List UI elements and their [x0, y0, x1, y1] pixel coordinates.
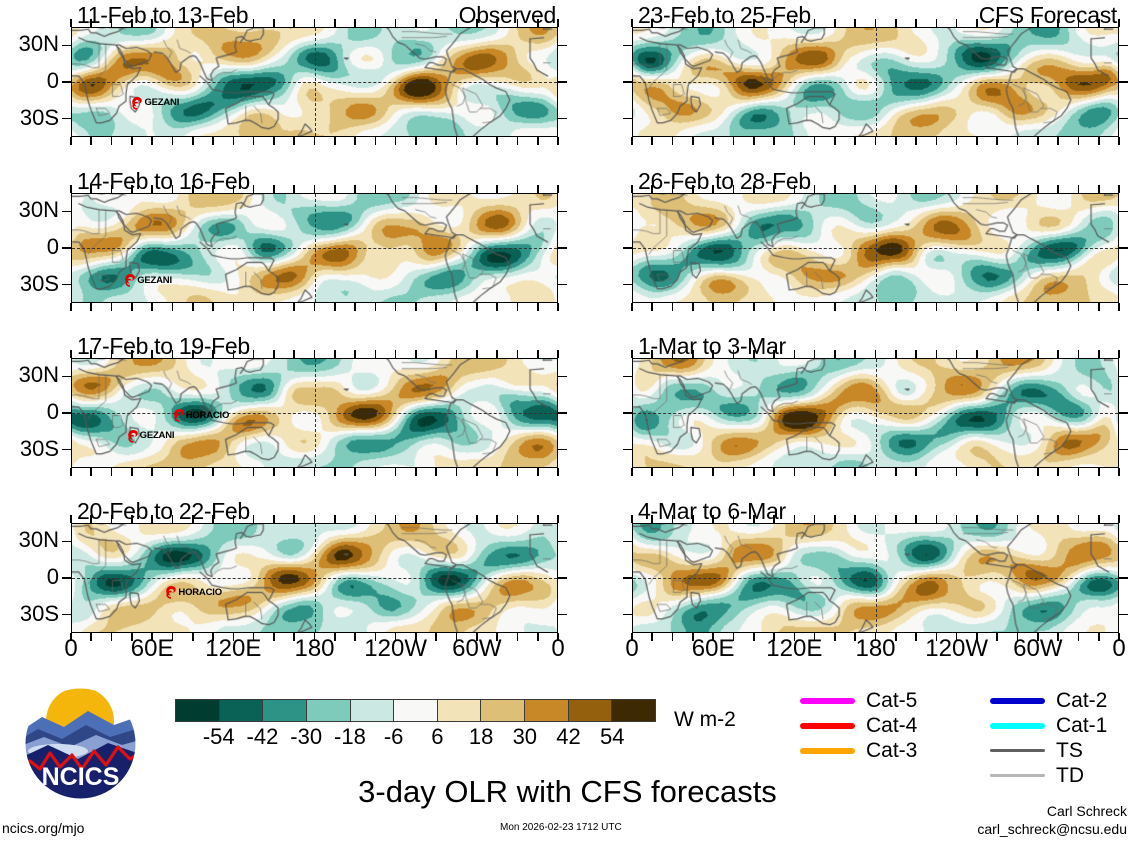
x-axis-tick: [631, 468, 633, 476]
x-axis-tick: [70, 19, 72, 27]
x-axis-tick: [1118, 303, 1120, 311]
x-axis-tick: [496, 303, 498, 311]
x-axis-tick: [956, 19, 958, 27]
x-axis-tick: [895, 515, 897, 523]
x-axis-tick: [915, 303, 917, 311]
x-axis-tick: [354, 303, 356, 311]
x-axis-tick: [834, 185, 836, 193]
olr-anomaly-field: [633, 194, 1118, 302]
x-axis-tick: [915, 185, 917, 193]
x-axis-tick: [212, 19, 214, 27]
y-axis-label: 30S: [0, 271, 59, 297]
x-axis-tick: [814, 515, 816, 523]
x-axis-tick: [895, 137, 897, 145]
x-axis-tick: [233, 468, 235, 476]
x-axis-tick: [1078, 185, 1080, 193]
x-axis-tick: [395, 350, 397, 358]
colorbar-segment-6: [437, 700, 481, 721]
x-axis-tick: [253, 185, 255, 193]
x-axis-tick: [936, 468, 938, 476]
y-axis-tick: [558, 45, 567, 47]
y-axis-tick: [62, 376, 71, 378]
y-axis-tick: [1119, 577, 1128, 579]
colorbar-tick-label: 6: [431, 724, 443, 750]
y-axis-tick: [623, 412, 632, 414]
map-panel-obs-1: 11-Feb to 13-FebObservedGEZANI30N030S: [71, 27, 558, 137]
x-axis-tick: [517, 515, 519, 523]
x-axis-tick: [415, 303, 417, 311]
x-axis-tick: [456, 19, 458, 27]
x-axis-tick: [753, 185, 755, 193]
x-axis-tick: [895, 19, 897, 27]
x-axis-tick: [733, 185, 735, 193]
x-axis-tick: [151, 468, 153, 476]
x-axis-tick: [537, 185, 539, 193]
x-axis-tick: [692, 19, 694, 27]
x-axis-tick: [692, 185, 694, 193]
y-axis-tick: [62, 45, 71, 47]
x-axis-tick: [192, 185, 194, 193]
y-axis-label: 0: [0, 68, 59, 94]
x-axis-tick: [1037, 303, 1039, 311]
x-axis-tick: [875, 137, 877, 145]
x-axis-tick: [956, 185, 958, 193]
x-axis-tick: [794, 19, 796, 27]
storm-legend-item: Cat-1: [990, 713, 1107, 738]
x-axis-tick: [456, 515, 458, 523]
x-axis-tick: [233, 303, 235, 311]
x-axis-tick: [834, 350, 836, 358]
x-axis-tick: [192, 137, 194, 145]
x-axis-tick: [172, 303, 174, 311]
x-axis-tick: [854, 19, 856, 27]
x-axis-tick: [895, 303, 897, 311]
x-axis-tick: [915, 19, 917, 27]
x-axis-tick: [1078, 137, 1080, 145]
x-axis-tick: [996, 185, 998, 193]
x-axis-tick: [456, 185, 458, 193]
x-axis-tick: [557, 515, 559, 523]
olr-anomaly-field: [72, 359, 557, 467]
x-axis-tick: [692, 303, 694, 311]
colorbar-tick-label: 18: [469, 724, 493, 750]
x-axis-tick: [233, 350, 235, 358]
storm-legend-column-left: Cat-5Cat-4Cat-3: [800, 688, 917, 763]
y-axis-tick: [558, 577, 567, 579]
x-axis-tick: [733, 19, 735, 27]
x-axis-tick: [90, 350, 92, 358]
y-axis-tick: [1119, 449, 1128, 451]
x-axis-tick: [1078, 19, 1080, 27]
x-axis-tick: [456, 350, 458, 358]
x-axis-tick: [537, 303, 539, 311]
x-axis-tick: [537, 515, 539, 523]
x-axis-tick: [537, 19, 539, 27]
x-axis-tick: [111, 350, 113, 358]
x-axis-tick: [915, 515, 917, 523]
x-axis-tick: [1057, 137, 1059, 145]
storm-legend-label: Cat-1: [1056, 714, 1107, 738]
x-axis-tick: [651, 468, 653, 476]
x-axis-tick: [1098, 137, 1100, 145]
y-axis-tick: [1119, 284, 1128, 286]
x-axis-label: 0: [1059, 635, 1135, 663]
x-axis-tick: [435, 137, 437, 145]
colorbar-tick-label: -30: [290, 724, 322, 750]
x-axis-tick: [794, 350, 796, 358]
x-axis-tick: [435, 350, 437, 358]
x-axis-tick: [834, 19, 836, 27]
x-axis-tick: [557, 185, 559, 193]
ncics-url[interactable]: ncics.org/mjo: [2, 820, 84, 836]
x-axis-tick: [456, 303, 458, 311]
x-axis-tick: [435, 303, 437, 311]
x-axis-tick: [253, 515, 255, 523]
x-axis-tick: [854, 515, 856, 523]
x-axis-tick: [415, 185, 417, 193]
storm-legend-label: Cat-4: [866, 714, 917, 738]
x-axis-tick: [692, 468, 694, 476]
x-axis-tick: [1017, 350, 1019, 358]
x-axis-tick: [996, 515, 998, 523]
x-axis-tick: [996, 468, 998, 476]
x-axis-tick: [651, 350, 653, 358]
x-axis-tick: [557, 468, 559, 476]
y-axis-tick: [62, 449, 71, 451]
x-axis-tick: [1118, 515, 1120, 523]
x-axis-tick: [631, 350, 633, 358]
y-axis-tick: [1119, 376, 1128, 378]
y-axis-label: 0: [0, 399, 59, 425]
storm-legend-swatch: [990, 723, 1045, 729]
x-axis-tick: [70, 515, 72, 523]
x-axis-tick: [651, 185, 653, 193]
x-axis-tick: [1098, 350, 1100, 358]
x-axis-tick: [334, 303, 336, 311]
panel-title: 11-Feb to 13-Feb: [77, 2, 248, 29]
x-axis-tick: [212, 515, 214, 523]
x-axis-tick: [651, 303, 653, 311]
y-axis-tick: [62, 577, 71, 579]
x-axis-tick: [334, 185, 336, 193]
x-axis-tick: [1118, 468, 1120, 476]
x-axis-tick: [733, 137, 735, 145]
map-frame: [632, 523, 1119, 633]
colorbar-tick-label: 42: [556, 724, 580, 750]
x-axis-tick: [895, 185, 897, 193]
x-axis-tick: [1057, 303, 1059, 311]
x-axis-tick: [334, 137, 336, 145]
y-axis-tick: [1119, 118, 1128, 120]
x-axis-tick: [753, 137, 755, 145]
y-axis-tick: [623, 376, 632, 378]
storm-legend-item: Cat-3: [800, 738, 917, 763]
x-axis-tick: [496, 350, 498, 358]
panel-column-header: Observed: [459, 2, 556, 29]
x-axis-tick: [773, 303, 775, 311]
y-axis-tick: [623, 541, 632, 543]
x-axis-tick: [517, 137, 519, 145]
y-axis-tick: [62, 247, 71, 249]
y-axis-tick: [623, 614, 632, 616]
x-axis-tick: [672, 137, 674, 145]
x-axis-tick: [875, 468, 877, 476]
x-axis-tick: [354, 19, 356, 27]
x-axis-tick: [70, 468, 72, 476]
x-axis-tick: [253, 350, 255, 358]
map-frame: HORACIO: [71, 523, 558, 633]
x-axis-tick: [131, 468, 133, 476]
colorbar-tick-label: 54: [600, 724, 624, 750]
y-axis-tick: [1119, 247, 1128, 249]
x-axis-tick: [794, 137, 796, 145]
x-axis-tick: [233, 19, 235, 27]
x-axis-tick: [70, 185, 72, 193]
x-axis-tick: [151, 19, 153, 27]
x-axis-tick: [456, 468, 458, 476]
x-axis-tick: [131, 137, 133, 145]
colorbar-tick-label: -18: [334, 724, 366, 750]
x-axis-tick: [875, 19, 877, 27]
x-axis-tick: [753, 515, 755, 523]
y-axis-label: 30N: [0, 362, 59, 388]
colorbar-segment-3: [306, 700, 350, 721]
x-axis-tick: [936, 303, 938, 311]
y-axis-tick: [558, 247, 567, 249]
x-axis-tick: [1078, 350, 1080, 358]
x-axis-tick: [293, 515, 295, 523]
olr-anomaly-field: [633, 524, 1118, 632]
x-axis-tick: [712, 515, 714, 523]
x-axis-tick: [172, 350, 174, 358]
y-axis-tick: [1119, 614, 1128, 616]
y-axis-tick: [62, 118, 71, 120]
x-axis-tick: [996, 350, 998, 358]
x-axis-tick: [672, 468, 674, 476]
y-axis-label: 30N: [0, 527, 59, 553]
x-axis-tick: [1017, 468, 1019, 476]
x-axis-tick: [936, 19, 938, 27]
x-axis-tick: [712, 19, 714, 27]
x-axis-tick: [172, 185, 174, 193]
x-axis-tick: [915, 468, 917, 476]
x-axis-tick: [1057, 185, 1059, 193]
x-axis-tick: [1098, 468, 1100, 476]
x-axis-tick: [1057, 468, 1059, 476]
x-axis-tick: [293, 468, 295, 476]
x-axis-tick: [976, 185, 978, 193]
x-axis-tick: [1098, 303, 1100, 311]
x-axis-tick: [90, 468, 92, 476]
storm-legend-label: Cat-2: [1056, 689, 1107, 713]
x-axis-tick: [1098, 185, 1100, 193]
x-axis-tick: [753, 19, 755, 27]
map-frame: [632, 193, 1119, 303]
x-axis-tick: [1057, 515, 1059, 523]
x-axis-tick: [773, 137, 775, 145]
x-axis-tick: [293, 19, 295, 27]
y-axis-tick: [623, 247, 632, 249]
x-axis-tick: [314, 185, 316, 193]
colorbar: -54-42-30-18-6618304254: [175, 699, 656, 750]
x-axis-tick: [936, 515, 938, 523]
y-axis-tick: [62, 284, 71, 286]
x-axis-tick: [631, 19, 633, 27]
x-axis-tick: [814, 350, 816, 358]
x-axis-tick: [314, 468, 316, 476]
x-axis-tick: [1037, 137, 1039, 145]
y-axis-tick: [558, 118, 567, 120]
x-axis-tick: [496, 515, 498, 523]
x-axis-tick: [415, 468, 417, 476]
x-axis-tick: [834, 137, 836, 145]
map-panel-fcs-4: 4-Mar to 6-Mar: [632, 523, 1119, 633]
x-axis-tick: [672, 515, 674, 523]
x-axis-tick: [834, 468, 836, 476]
x-axis-tick: [517, 303, 519, 311]
x-axis-tick: [111, 303, 113, 311]
y-axis-tick: [558, 211, 567, 213]
x-axis-tick: [996, 19, 998, 27]
x-axis-tick: [712, 350, 714, 358]
x-axis-tick: [375, 137, 377, 145]
colorbar-tick-label: -42: [247, 724, 279, 750]
y-axis-tick: [62, 541, 71, 543]
x-axis-tick: [976, 350, 978, 358]
x-axis-tick: [212, 468, 214, 476]
x-axis-tick: [794, 515, 796, 523]
x-axis-tick: [212, 350, 214, 358]
y-axis-tick: [558, 376, 567, 378]
x-axis-tick: [496, 137, 498, 145]
x-axis-tick: [192, 350, 194, 358]
x-axis-tick: [814, 185, 816, 193]
x-axis-tick: [875, 515, 877, 523]
x-axis-tick: [476, 515, 478, 523]
x-axis-tick: [253, 468, 255, 476]
x-axis-tick: [151, 137, 153, 145]
x-axis-tick: [151, 303, 153, 311]
x-axis-tick: [773, 350, 775, 358]
x-axis-tick: [794, 185, 796, 193]
x-axis-tick: [395, 19, 397, 27]
colorbar-segment-1: [219, 700, 263, 721]
x-axis-tick: [375, 303, 377, 311]
x-axis-tick: [537, 350, 539, 358]
x-axis-tick: [354, 185, 356, 193]
x-axis-tick: [996, 303, 998, 311]
x-axis-tick: [753, 350, 755, 358]
x-axis-tick: [111, 185, 113, 193]
x-axis-tick: [517, 350, 519, 358]
x-axis-tick: [111, 515, 113, 523]
y-axis-tick: [62, 211, 71, 213]
y-axis-label: 0: [0, 564, 59, 590]
x-axis-tick: [976, 468, 978, 476]
x-axis-tick: [773, 515, 775, 523]
x-axis-tick: [875, 303, 877, 311]
x-axis-tick: [1078, 303, 1080, 311]
colorbar-segment-10: [611, 700, 655, 721]
panel-title: 14-Feb to 16-Feb: [77, 168, 250, 195]
y-axis-label: 30S: [0, 105, 59, 131]
olr-anomaly-field: [72, 28, 557, 136]
x-axis-tick: [172, 468, 174, 476]
x-axis-tick: [293, 303, 295, 311]
olr-anomaly-field: [72, 194, 557, 302]
x-axis-tick: [651, 137, 653, 145]
x-axis-tick: [692, 350, 694, 358]
x-axis-tick: [476, 19, 478, 27]
x-axis-tick: [1017, 185, 1019, 193]
x-axis-tick: [476, 468, 478, 476]
x-axis-tick: [814, 468, 816, 476]
x-axis-tick: [936, 350, 938, 358]
y-axis-tick: [558, 284, 567, 286]
x-axis-tick: [915, 137, 917, 145]
x-axis-tick: [273, 19, 275, 27]
x-axis-tick: [375, 185, 377, 193]
x-axis-tick: [90, 185, 92, 193]
x-axis-tick: [395, 468, 397, 476]
map-frame: [632, 358, 1119, 468]
x-axis-tick: [956, 350, 958, 358]
x-axis-tick: [976, 515, 978, 523]
x-axis-tick: [996, 137, 998, 145]
x-axis-tick: [395, 185, 397, 193]
y-axis-tick: [623, 118, 632, 120]
x-axis-tick: [131, 515, 133, 523]
x-axis-tick: [395, 137, 397, 145]
x-axis-tick: [631, 137, 633, 145]
y-axis-label: 30N: [0, 31, 59, 57]
x-axis-tick: [895, 350, 897, 358]
x-axis-tick: [151, 350, 153, 358]
x-axis-tick: [253, 303, 255, 311]
author-email[interactable]: carl_schreck@ncsu.edu: [977, 821, 1127, 837]
x-axis-tick: [773, 468, 775, 476]
x-axis-tick: [212, 185, 214, 193]
y-axis-tick: [623, 577, 632, 579]
x-axis-tick: [814, 137, 816, 145]
x-axis-tick: [631, 185, 633, 193]
x-axis-tick: [956, 468, 958, 476]
x-axis-tick: [1017, 137, 1019, 145]
panel-title: 17-Feb to 19-Feb: [77, 333, 250, 360]
x-axis-tick: [273, 303, 275, 311]
y-axis-tick: [62, 614, 71, 616]
x-axis-tick: [1057, 19, 1059, 27]
x-axis-tick: [496, 468, 498, 476]
x-axis-tick: [70, 303, 72, 311]
x-axis-tick: [517, 19, 519, 27]
x-axis-tick: [794, 468, 796, 476]
colorbar-segment-7: [480, 700, 524, 721]
x-axis-tick: [1078, 468, 1080, 476]
x-axis-tick: [253, 19, 255, 27]
x-axis-tick: [1037, 350, 1039, 358]
x-axis-tick: [131, 185, 133, 193]
x-axis-tick: [192, 303, 194, 311]
x-axis-tick: [415, 350, 417, 358]
x-axis-tick: [334, 19, 336, 27]
x-axis-tick: [354, 515, 356, 523]
x-axis-tick: [834, 515, 836, 523]
colorbar-segment-4: [350, 700, 394, 721]
x-axis-tick: [111, 468, 113, 476]
x-axis-tick: [1017, 303, 1019, 311]
x-axis-tick: [692, 515, 694, 523]
